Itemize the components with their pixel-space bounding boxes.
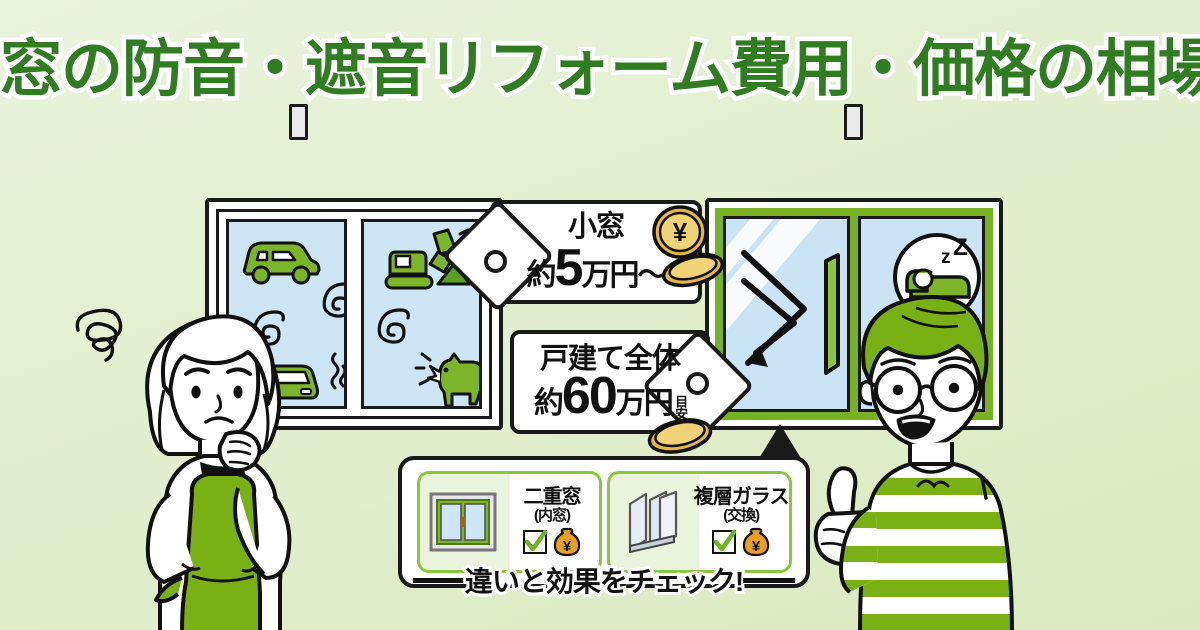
compare-item-title: 二重窓 <box>524 487 581 507</box>
tag-amount: 約5万円〜 <box>527 246 666 290</box>
svg-text:¥: ¥ <box>563 538 572 555</box>
caption-rule-right <box>743 578 795 583</box>
compare-item-title: 複層ガラス <box>694 487 789 507</box>
yen-coin-icon <box>645 414 715 458</box>
compare-caption-row: 違いと効果をチェック! <box>398 560 810 600</box>
double-window-icon <box>420 474 506 570</box>
money-bag-icon: ¥ <box>552 527 582 557</box>
barking-dog-icon <box>414 348 482 409</box>
tag-unit: 万円 <box>581 261 637 291</box>
compare-item-double-window[interactable]: 二重窓 (内窓) ¥ <box>417 471 602 573</box>
caption-rule-left <box>413 578 465 583</box>
compare-item-badges: ¥ <box>522 527 582 557</box>
compare-item-sub: (交換) <box>723 508 759 523</box>
svg-text:¥: ¥ <box>752 538 761 555</box>
window-handle <box>289 104 308 140</box>
price-tag-hole <box>686 372 709 395</box>
svg-text:¥: ¥ <box>673 217 688 247</box>
checkbox-checked-icon[interactable] <box>711 529 737 555</box>
tag-prefix: 約 <box>534 389 562 419</box>
tag-number: 60 <box>562 374 616 418</box>
car-icon <box>237 230 323 286</box>
compare-item-badges: ¥ <box>711 527 771 557</box>
tag-amount: 約60万円目安 <box>534 374 686 418</box>
infographic-canvas: 窓の防音・遮音リフォーム費用・価格の相場は? <box>0 0 1200 630</box>
compare-item-text: 二重窓 (内窓) ¥ <box>506 487 599 557</box>
noise-swirl-icon <box>370 306 416 352</box>
window-handle <box>844 104 863 140</box>
worried-woman <box>108 282 338 630</box>
checkbox-checked-icon[interactable] <box>522 529 548 555</box>
tag-prefix: 約 <box>527 261 555 291</box>
multilayer-glass-icon <box>610 474 694 570</box>
tag-heading: 小窓 <box>568 213 624 242</box>
page-title: 窓の防音・遮音リフォーム費用・価格の相場は? <box>0 36 1200 104</box>
money-bag-icon: ¥ <box>741 527 771 557</box>
compare-item-multilayer-glass[interactable]: 複層ガラス (交換) ¥ <box>607 471 792 573</box>
tag-number: 5 <box>555 246 582 290</box>
yen-coin-icon <box>660 250 726 290</box>
price-tag-hole <box>484 250 507 273</box>
svg-text:Z: Z <box>953 234 968 261</box>
compare-card-pointer <box>758 424 802 460</box>
compare-caption: 違いと効果をチェック! <box>465 560 743 600</box>
smiling-man <box>806 272 1056 630</box>
compare-item-text: 複層ガラス (交換) ¥ <box>694 487 789 557</box>
compare-item-sub: (内窓) <box>534 508 570 523</box>
svg-text:z: z <box>941 247 951 268</box>
